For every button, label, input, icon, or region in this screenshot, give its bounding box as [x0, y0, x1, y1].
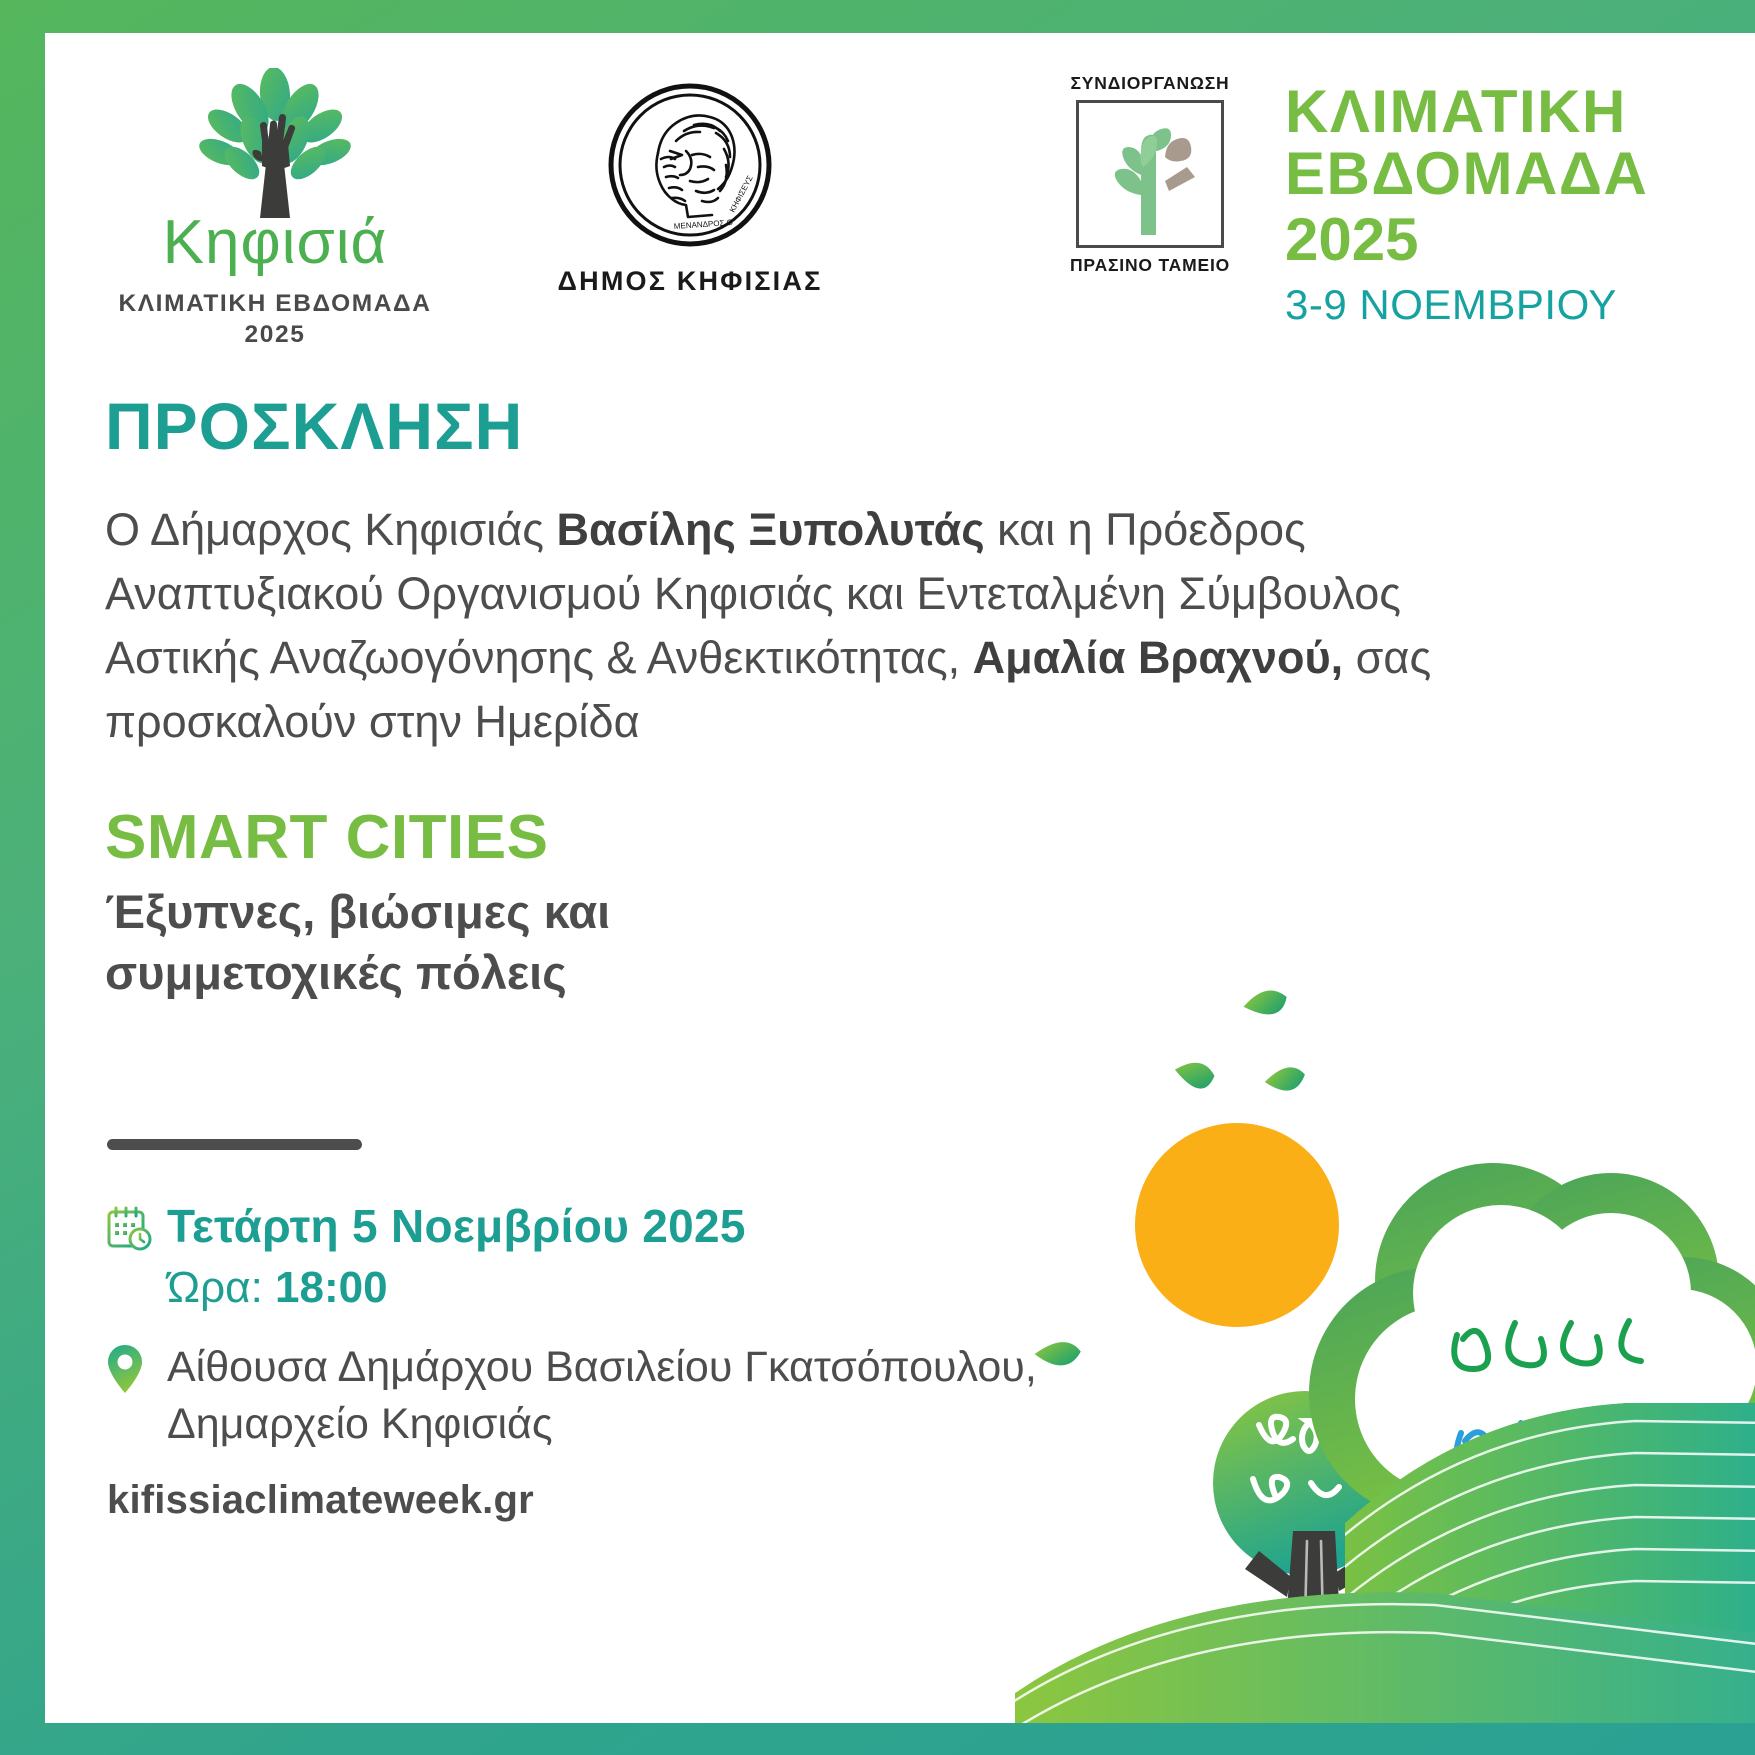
logo-municipality: ΜΕΝΑΝΔΡΟΣ Ο ΚΗΦΙΣΕΥΣ ΔΗΜΟΣ ΚΗΦΙΣΙΑΣ	[510, 81, 870, 297]
event-date: Τετάρτη 5 Νοεμβρίου 2025	[167, 1200, 1445, 1253]
event-details: Τετάρτη 5 Νοεμβρίου 2025 Ώρα: 18:00	[105, 1200, 1445, 1453]
location-line1: Αίθουσα Δημάρχου Βασιλείου Γκατσόπουλου,	[167, 1339, 1445, 1396]
event-location: Αίθουσα Δημάρχου Βασιλείου Γκατσόπουλου,…	[167, 1339, 1445, 1453]
mayor-name: Βασίλης Ξυπολυτάς	[556, 504, 984, 555]
invitation-body: Ο Δήμαρχος Κηφισιάς Βασίλης Ξυπολυτάς κα…	[105, 498, 1445, 754]
page-title: ΠΡΟΣΚΛΗΣΗ	[105, 388, 1445, 464]
logo-kifisia: Κηφισιά ΚΛΙΜΑΤΙΚΗ ΕΒΔΟΜΑΔΑ 2025	[105, 68, 445, 351]
date-time-row: Τετάρτη 5 Νοεμβρίου 2025 Ώρα: 18:00	[105, 1200, 1445, 1313]
time-value: 18:00	[275, 1263, 388, 1312]
logo-climate-week: ΚΛΙΜΑΤΙΚΗ ΕΒΔΟΜΑΔΑ 2025 3-9 ΝΟΕΜΒΡΙΟΥ	[1285, 81, 1648, 332]
climate-week-line1: ΚΛΙΜΑΤΙΚΗ	[1285, 81, 1648, 143]
header-logos: Κηφισιά ΚΛΙΜΑΤΙΚΗ ΕΒΔΟΜΑΔΑ 2025	[45, 33, 1755, 323]
climate-week-line2: ΕΒΔΟΜΑΔΑ	[1285, 143, 1648, 205]
website-url[interactable]: kifissiaclimateweek.gr	[107, 1478, 534, 1523]
logo-partner: ΣΥΝΔΙΟΡΓΑΝΩΣΗ ΠΡΑΣΙΝΟ ΤΑΜΕΙΟ	[1045, 73, 1255, 276]
event-title: SMART CITIES	[105, 802, 1445, 873]
hand-tree-logo-icon	[105, 68, 445, 218]
divider	[107, 1139, 362, 1150]
partner-top-label: ΣΥΝΔΙΟΡΓΑΝΩΣΗ	[1045, 73, 1255, 94]
invitation-part-1: Ο Δήμαρχος Κηφισιάς	[105, 504, 556, 555]
municipality-label: ΔΗΜΟΣ ΚΗΦΙΣΙΑΣ	[510, 266, 870, 297]
menandros-coin-seal-icon: ΜΕΝΑΝΔΡΟΣ Ο ΚΗΦΙΣΕΥΣ	[606, 236, 774, 253]
main-content: ΠΡΟΣΚΛΗΣΗ Ο Δήμαρχος Κηφισιάς Βασίλης Ξυ…	[105, 388, 1445, 1453]
partner-bottom-label: ΠΡΑΣΙΝΟ ΤΑΜΕΙΟ	[1045, 255, 1255, 276]
green-fund-sapling-logo-icon	[1076, 100, 1224, 248]
event-subtitle-line1: Έξυπνες, βιώσιμες και	[105, 881, 1445, 942]
poster-card: Κηφισιά ΚΛΙΜΑΤΙΚΗ ΕΒΔΟΜΑΔΑ 2025	[45, 33, 1755, 1723]
kifisia-wordmark: Κηφισιά	[105, 212, 445, 274]
map-pin-icon	[105, 1339, 167, 1400]
time-label: Ώρα:	[167, 1263, 275, 1312]
climate-week-year: 2025	[1285, 205, 1648, 274]
climate-week-dates: 3-9 ΝΟΕΜΒΡΙΟΥ	[1285, 278, 1648, 333]
event-subtitle-line2: συμμετοχικές πόλεις	[105, 942, 1445, 1003]
president-name: Αμαλία Βραχνού,	[973, 632, 1344, 683]
kifisia-subtitle: ΚΛΙΜΑΤΙΚΗ ΕΒΔΟΜΑΔΑ 2025	[105, 288, 445, 351]
event-time: Ώρα: 18:00	[167, 1263, 1445, 1314]
location-line2: Δημαρχείο Κηφισιάς	[167, 1396, 1445, 1453]
calendar-clock-icon	[105, 1200, 167, 1259]
location-row: Αίθουσα Δημάρχου Βασιλείου Γκατσόπουλου,…	[105, 1339, 1445, 1453]
event-subtitle: Έξυπνες, βιώσιμες και συμμετοχικές πόλει…	[105, 881, 1445, 1003]
